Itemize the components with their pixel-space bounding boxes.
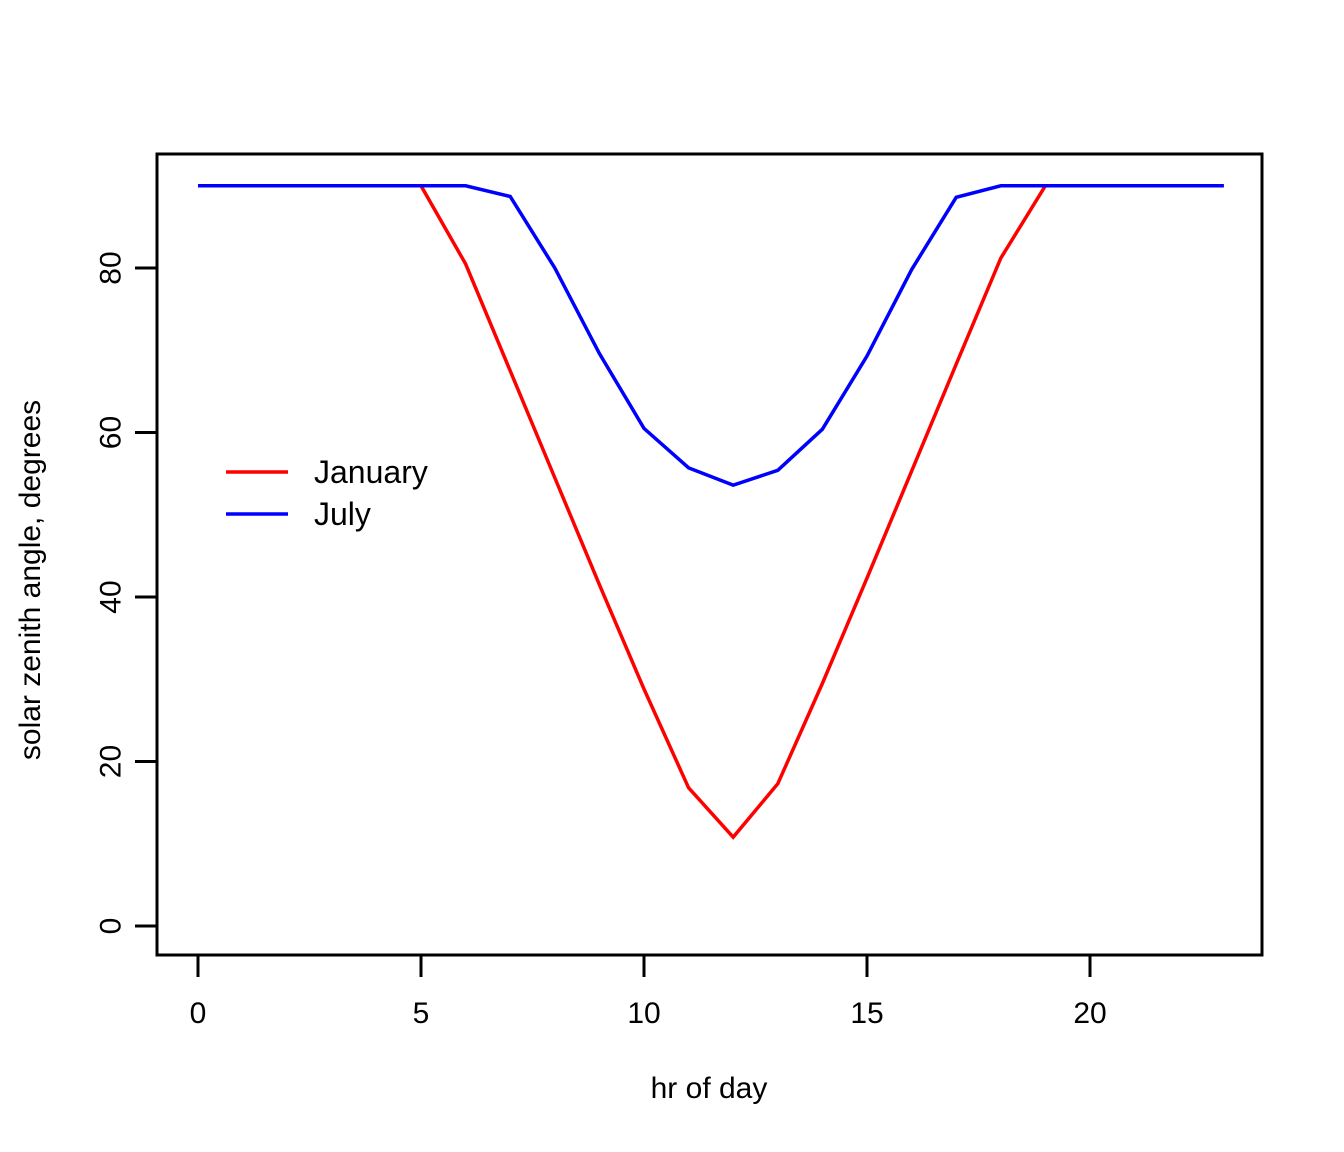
y-tick-label: 0 (95, 918, 128, 935)
x-axis-title: hr of day (651, 1072, 768, 1105)
x-tick-label: 5 (413, 997, 430, 1030)
x-tick-label: 20 (1073, 997, 1106, 1030)
y-tick-label: 60 (95, 416, 128, 449)
solar-zenith-angle-line-chart: 020406080 05101520 JanuaryJuly hr of day… (0, 0, 1344, 1152)
y-tick-label: 20 (95, 745, 128, 778)
figure-background (0, 0, 1344, 1152)
x-tick-label: 10 (627, 997, 660, 1030)
x-tick-label: 15 (850, 997, 883, 1030)
y-axis-title: solar zenith angle, degrees (14, 400, 47, 760)
legend-label-july: July (314, 496, 371, 532)
y-tick-label: 40 (95, 580, 128, 613)
legend-label-january: January (314, 454, 428, 490)
x-tick-label: 0 (190, 997, 207, 1030)
chart-figure: 020406080 05101520 JanuaryJuly hr of day… (0, 0, 1344, 1152)
y-tick-label: 80 (95, 251, 128, 284)
